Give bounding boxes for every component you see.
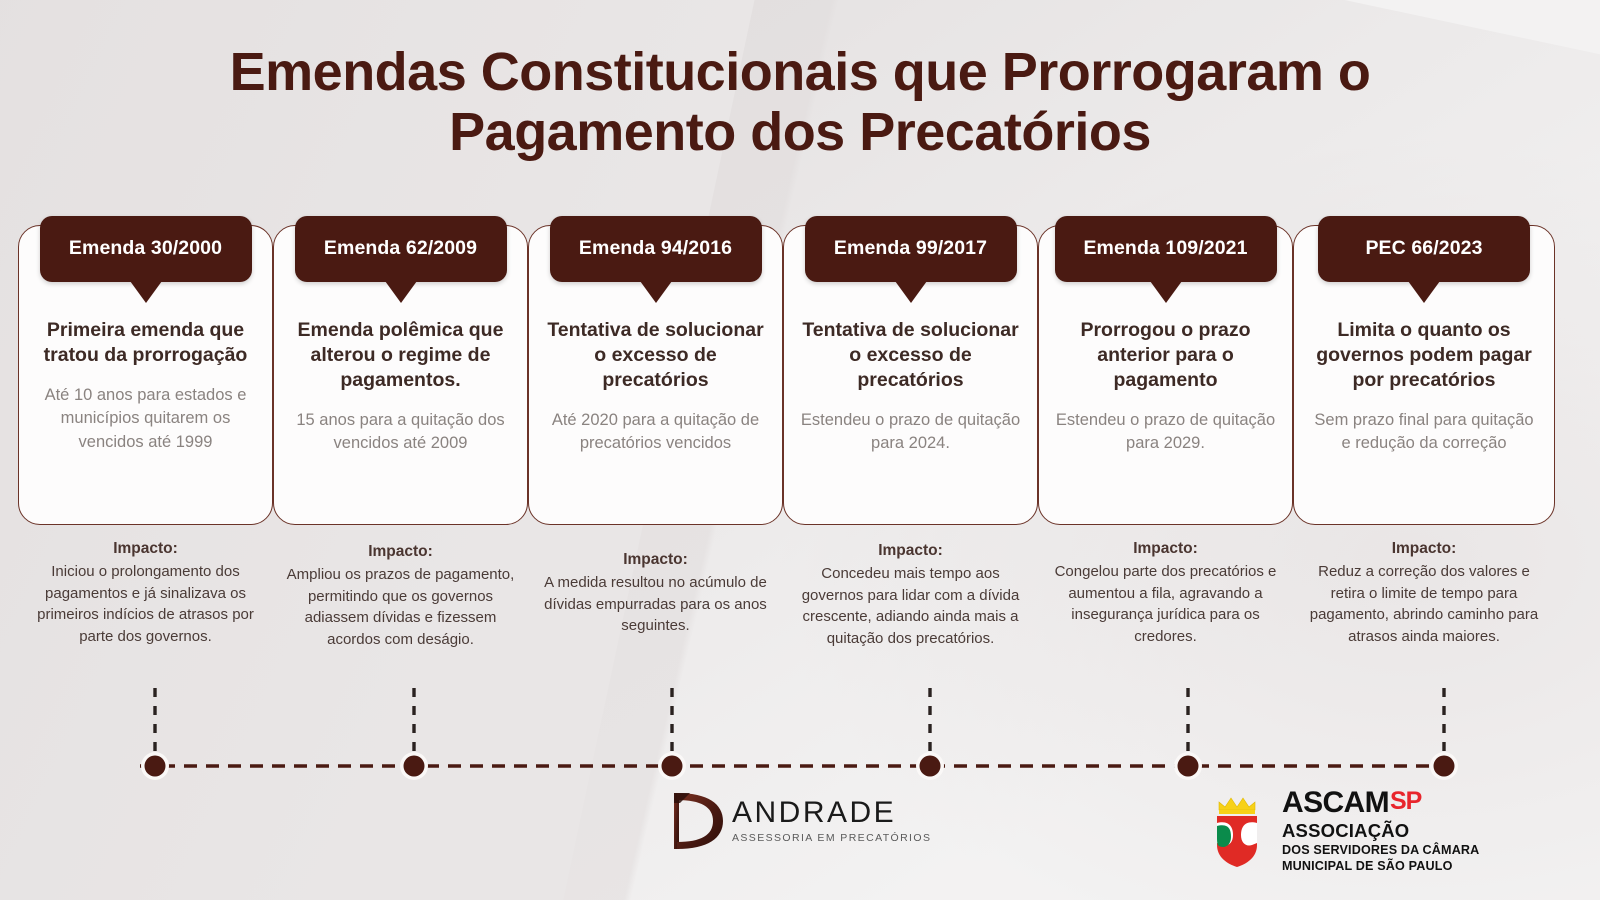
timeline-dot-3[interactable] [658,752,686,780]
ascam-logo[interactable]: ASCAMSP ASSOCIAÇÃO DOS SERVIDORES DA CÂM… [1207,788,1479,874]
card-body-4: Emenda 99/2017 Tentativa de solucionar o… [783,225,1038,525]
impact-block-5: Impacto: Congelou parte dos precatórios … [1038,540,1293,650]
ascam-name: ASCAM [1282,788,1389,818]
impact-block-1: Impacto: Iniciou o prolongamento dos pag… [18,540,273,650]
page-title-line-1: Emendas Constitucionais que Prorrogaram … [230,42,1371,102]
impact-text-1: Iniciou o prolongamento dos pagamentos e… [26,561,265,647]
sao-paulo-coat-of-arms-icon [1207,793,1273,869]
impact-label-5: Impacto: [1046,540,1285,558]
card-headline-3: Tentativa de solucionar o excesso de pre… [545,318,766,393]
andrade-monogram-icon [668,790,726,852]
impact-row: Impacto: Iniciou o prolongamento dos pag… [18,540,1582,650]
impact-block-2: Impacto: Ampliou os prazos de pagamento,… [273,540,528,650]
page-title: Emendas Constitucionais que Prorrogaram … [0,42,1600,163]
andrade-logo[interactable]: ANDRADE ASSESSORIA EM PRECATÓRIOS [668,790,931,852]
impact-text-3: A medida resultou no acúmulo de dívidas … [536,572,775,637]
card-detail-2: 15 anos para a quitação dos vencidos até… [290,409,511,456]
card-body-2: Emenda 62/2009 Emenda polêmica que alter… [273,225,528,525]
impact-block-4: Impacto: Concedeu mais tempo aos governo… [783,540,1038,650]
timeline-cards-row: Emenda 30/2000 Primeira emenda que trato… [18,225,1582,525]
timeline-card-5: Emenda 109/2021 Prorrogou o prazo anteri… [1038,225,1293,525]
card-headline-5: Prorrogou o prazo anterior para o pagame… [1055,318,1276,393]
impact-label-3: Impacto: [536,551,775,569]
card-detail-4: Estendeu o prazo de quitação para 2024. [800,409,1021,456]
card-badge-3[interactable]: Emenda 94/2016 [550,216,762,282]
card-body-5: Emenda 109/2021 Prorrogou o prazo anteri… [1038,225,1293,525]
timeline-card-2: Emenda 62/2009 Emenda polêmica que alter… [273,225,528,525]
impact-text-6: Reduz a correção dos valores e retira o … [1301,561,1547,647]
card-badge-5[interactable]: Emenda 109/2021 [1055,216,1277,282]
timeline-dot-2[interactable] [400,752,428,780]
impact-label-1: Impacto: [26,540,265,558]
timeline-dot-1[interactable] [141,752,169,780]
timeline-card-3: Emenda 94/2016 Tentativa de solucionar o… [528,225,783,525]
card-badge-2[interactable]: Emenda 62/2009 [295,216,507,282]
card-headline-6: Limita o quanto os governos podem pagar … [1310,318,1538,393]
impact-label-2: Impacto: [281,543,520,561]
ascam-line-3: DOS SERVIDORES DA CÂMARA [1282,843,1479,858]
impact-text-4: Concedeu mais tempo aos governos para li… [791,563,1030,649]
ascam-line-2: ASSOCIAÇÃO [1282,821,1479,841]
card-badge-4[interactable]: Emenda 99/2017 [805,216,1017,282]
ascam-wordmark: ASCAMSP ASSOCIAÇÃO DOS SERVIDORES DA CÂM… [1282,788,1479,874]
andrade-name: ANDRADE [732,798,931,828]
footer-logos: ANDRADE ASSESSORIA EM PRECATÓRIOS [0,786,1600,886]
card-badge-6[interactable]: PEC 66/2023 [1318,216,1530,282]
page-title-line-2: Pagamento dos Precatórios [120,102,1480,162]
ascam-line-4: MUNICIPAL DE SÃO PAULO [1282,859,1479,874]
card-body-1: Emenda 30/2000 Primeira emenda que trato… [18,225,273,525]
timeline-dot-5[interactable] [1174,752,1202,780]
timeline-dot-4[interactable] [916,752,944,780]
andrade-tagline: ASSESSORIA EM PRECATÓRIOS [732,832,931,844]
ascam-name-row: ASCAMSP [1282,788,1479,818]
infographic-canvas: Emendas Constitucionais que Prorrogaram … [0,0,1600,900]
timeline-card-1: Emenda 30/2000 Primeira emenda que trato… [18,225,273,525]
card-headline-2: Emenda polêmica que alterou o regime de … [290,318,511,393]
timeline-dot-6[interactable] [1430,752,1458,780]
card-headline-1: Primeira emenda que tratou da prorrogaçã… [35,318,256,368]
card-body-3: Emenda 94/2016 Tentativa de solucionar o… [528,225,783,525]
card-detail-1: Até 10 anos para estados e municípios qu… [35,384,256,454]
card-headline-4: Tentativa de solucionar o excesso de pre… [800,318,1021,393]
card-detail-3: Até 2020 para a quitação de precatórios … [545,409,766,456]
andrade-wordmark: ANDRADE ASSESSORIA EM PRECATÓRIOS [732,798,931,844]
impact-text-2: Ampliou os prazos de pagamento, permitin… [281,564,520,650]
card-body-6: PEC 66/2023 Limita o quanto os governos … [1293,225,1555,525]
impact-text-5: Congelou parte dos precatórios e aumento… [1046,561,1285,647]
ascam-sp-suffix: SP [1390,789,1421,814]
impact-label-4: Impacto: [791,542,1030,560]
timeline-card-6: PEC 66/2023 Limita o quanto os governos … [1293,225,1555,525]
impact-block-6: Impacto: Reduz a correção dos valores e … [1293,540,1555,650]
card-detail-6: Sem prazo final para quitação e redução … [1310,409,1538,456]
timeline-card-4: Emenda 99/2017 Tentativa de solucionar o… [783,225,1038,525]
impact-label-6: Impacto: [1301,540,1547,558]
impact-block-3: Impacto: A medida resultou no acúmulo de… [528,540,783,650]
card-detail-5: Estendeu o prazo de quitação para 2029. [1055,409,1276,456]
card-badge-1[interactable]: Emenda 30/2000 [40,216,252,282]
